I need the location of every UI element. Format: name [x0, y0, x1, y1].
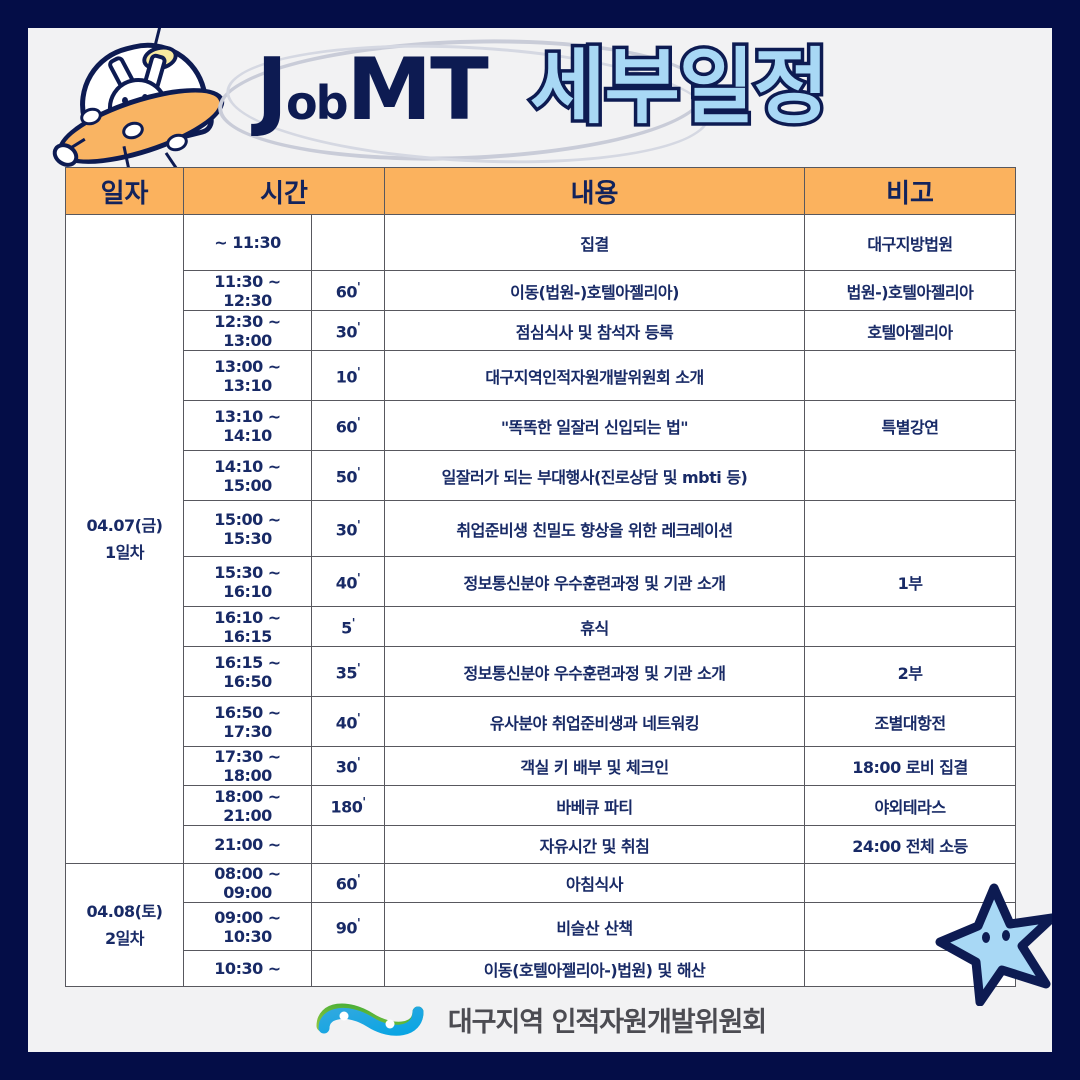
row-remark: 야외테라스: [805, 786, 1016, 826]
table-row: 11:30 ~ 12:3060'이동(법원-)호텔아젤리아)법원-)호텔아젤리아: [66, 271, 1016, 311]
row-remark: 24:00 전체 소등: [805, 826, 1016, 864]
row-time: 14:10 ~ 15:00: [184, 451, 312, 501]
row-duration: 40': [312, 697, 385, 747]
row-duration: [312, 951, 385, 987]
row-content: 집결: [385, 215, 805, 271]
row-remark: 1부: [805, 557, 1016, 607]
title-jobmt: JobMT: [256, 42, 487, 151]
row-duration: [312, 215, 385, 271]
table-row: 21:00 ~자유시간 및 취침24:00 전체 소등: [66, 826, 1016, 864]
table-row: 13:10 ~ 14:1060'"똑똑한 일잘러 신입되는 법"특별강연: [66, 401, 1016, 451]
page-title: JobMT 세부일정: [208, 32, 888, 162]
title-jobmt-mt: MT: [347, 40, 487, 140]
row-duration: 60': [312, 271, 385, 311]
table-row: 17:30 ~ 18:0030'객실 키 배부 및 체크인18:00 로비 집결: [66, 747, 1016, 786]
row-content: 자유시간 및 취침: [385, 826, 805, 864]
table-row: 12:30 ~ 13:0030'점심식사 및 참석자 등록호텔아젤리아: [66, 311, 1016, 351]
infinity-ribbon-logo: [314, 996, 434, 1042]
table-row: 04.08(토)2일차08:00 ~ 09:0060'아침식사: [66, 864, 1016, 903]
row-duration: 180': [312, 786, 385, 826]
col-header-remark: 비고: [805, 168, 1016, 215]
poster-page: JobMT 세부일정 일자 시간 내용 비: [28, 28, 1052, 1052]
row-content: 유사분야 취업준비생과 네트워킹: [385, 697, 805, 747]
row-content: 취업준비생 친밀도 향상을 위한 레크레이션: [385, 501, 805, 557]
schedule-table-head: 일자 시간 내용 비고: [66, 168, 1016, 215]
row-content: 바베큐 파티: [385, 786, 805, 826]
row-duration: [312, 826, 385, 864]
row-duration: 90': [312, 903, 385, 951]
row-duration: 30': [312, 311, 385, 351]
row-time: 21:00 ~: [184, 826, 312, 864]
footer-org-name: 대구지역 인적자원개발위원회: [448, 1000, 766, 1039]
table-row: 16:50 ~ 17:3040'유사분야 취업준비생과 네트워킹조별대항전: [66, 697, 1016, 747]
table-row: 13:00 ~ 13:1010'대구지역인적자원개발위원회 소개: [66, 351, 1016, 401]
row-remark: 조별대항전: [805, 697, 1016, 747]
row-time: 15:00 ~ 15:30: [184, 501, 312, 557]
row-date: 04.08(토)2일차: [66, 864, 184, 987]
col-header-time: 시간: [184, 168, 385, 215]
row-content: 대구지역인적자원개발위원회 소개: [385, 351, 805, 401]
row-duration: 30': [312, 747, 385, 786]
row-content: 일잘러가 되는 부대행사(진로상담 및 mbti 등): [385, 451, 805, 501]
row-remark: 2부: [805, 647, 1016, 697]
row-content: "똑똑한 일잘러 신입되는 법": [385, 401, 805, 451]
row-time: 13:10 ~ 14:10: [184, 401, 312, 451]
table-row: 16:10 ~ 16:155'휴식: [66, 607, 1016, 647]
row-duration: 30': [312, 501, 385, 557]
row-content: 이동(호텔아젤리아-)법원) 및 해산: [385, 951, 805, 987]
row-remark: 호텔아젤리아: [805, 311, 1016, 351]
row-remark: [805, 607, 1016, 647]
poster-header: JobMT 세부일정: [28, 28, 1052, 168]
row-remark: 특별강연: [805, 401, 1016, 451]
table-row: 15:00 ~ 15:3030'취업준비생 친밀도 향상을 위한 레크레이션: [66, 501, 1016, 557]
row-remark: [805, 501, 1016, 557]
poster-root: JobMT 세부일정 일자 시간 내용 비: [0, 0, 1080, 1080]
row-date: 04.07(금)1일차: [66, 215, 184, 864]
row-duration: 60': [312, 401, 385, 451]
table-row: 15:30 ~ 16:1040'정보통신분야 우수훈련과정 및 기관 소개1부: [66, 557, 1016, 607]
row-time: 18:00 ~ 21:00: [184, 786, 312, 826]
row-duration: 5': [312, 607, 385, 647]
row-duration: 50': [312, 451, 385, 501]
row-duration: 35': [312, 647, 385, 697]
footer: 대구지역 인적자원개발위원회: [28, 988, 1052, 1050]
row-time: 16:10 ~ 16:15: [184, 607, 312, 647]
row-content: 아침식사: [385, 864, 805, 903]
row-remark: [805, 451, 1016, 501]
star-eye-left: [982, 932, 990, 943]
row-time: 17:30 ~ 18:00: [184, 747, 312, 786]
row-remark: [805, 351, 1016, 401]
table-row: 18:00 ~ 21:00180'바베큐 파티야외테라스: [66, 786, 1016, 826]
col-header-content: 내용: [385, 168, 805, 215]
row-content: 이동(법원-)호텔아젤리아): [385, 271, 805, 311]
row-duration: 10': [312, 351, 385, 401]
table-row: 14:10 ~ 15:0050'일잘러가 되는 부대행사(진로상담 및 mbti…: [66, 451, 1016, 501]
row-remark: 법원-)호텔아젤리아: [805, 271, 1016, 311]
row-time: 10:30 ~: [184, 951, 312, 987]
row-content: 정보통신분야 우수훈련과정 및 기관 소개: [385, 647, 805, 697]
schedule-table: 일자 시간 내용 비고 04.07(금)1일차~ 11:30집결대구지방법원11…: [65, 167, 1016, 987]
row-time: 12:30 ~ 13:00: [184, 311, 312, 351]
row-content: 점심식사 및 참석자 등록: [385, 311, 805, 351]
row-time: ~ 11:30: [184, 215, 312, 271]
row-content: 비슬산 산책: [385, 903, 805, 951]
row-time: 15:30 ~ 16:10: [184, 557, 312, 607]
row-time: 16:15 ~ 16:50: [184, 647, 312, 697]
schedule-table-body: 04.07(금)1일차~ 11:30집결대구지방법원11:30 ~ 12:306…: [66, 215, 1016, 987]
title-korean: 세부일정: [530, 36, 828, 140]
row-remark: 대구지방법원: [805, 215, 1016, 271]
row-content: 객실 키 배부 및 체크인: [385, 747, 805, 786]
row-content: 휴식: [385, 607, 805, 647]
col-header-date: 일자: [66, 168, 184, 215]
title-jobmt-j: J: [256, 40, 286, 140]
table-row: 10:30 ~이동(호텔아젤리아-)법원) 및 해산: [66, 951, 1016, 987]
row-time: 11:30 ~ 12:30: [184, 271, 312, 311]
row-duration: 60': [312, 864, 385, 903]
schedule-table-wrap: 일자 시간 내용 비고 04.07(금)1일차~ 11:30집결대구지방법원11…: [65, 167, 1015, 987]
table-header-row: 일자 시간 내용 비고: [66, 168, 1016, 215]
row-time: 08:00 ~ 09:00: [184, 864, 312, 903]
row-remark: 18:00 로비 집결: [805, 747, 1016, 786]
table-row: 16:15 ~ 16:5035'정보통신분야 우수훈련과정 및 기관 소개2부: [66, 647, 1016, 697]
row-time: 13:00 ~ 13:10: [184, 351, 312, 401]
star-eye-right: [1002, 930, 1010, 941]
row-time: 09:00 ~ 10:30: [184, 903, 312, 951]
row-content: 정보통신분야 우수훈련과정 및 기관 소개: [385, 557, 805, 607]
row-time: 16:50 ~ 17:30: [184, 697, 312, 747]
title-jobmt-ob: ob: [286, 76, 347, 130]
table-row: 04.07(금)1일차~ 11:30집결대구지방법원: [66, 215, 1016, 271]
row-duration: 40': [312, 557, 385, 607]
table-row: 09:00 ~ 10:3090'비슬산 산책: [66, 903, 1016, 951]
